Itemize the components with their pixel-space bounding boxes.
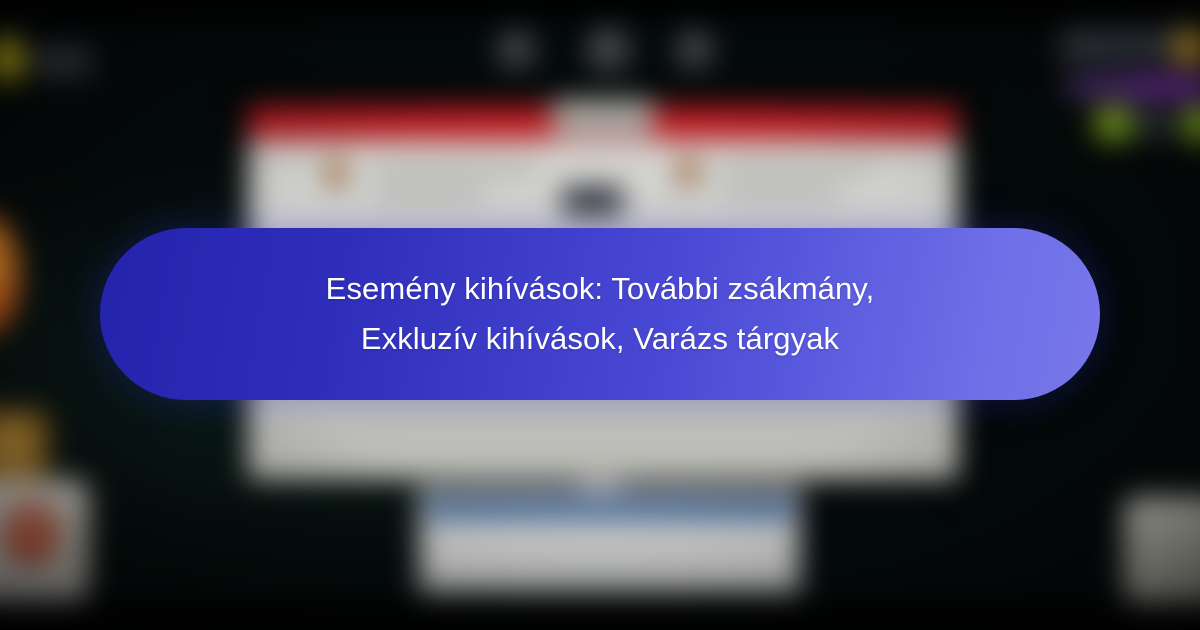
overlay-banner: Esemény kihívások: További zsákmány, Exk… <box>100 228 1100 400</box>
screenshot-stage: Esemény kihívások: További zsákmány, Exk… <box>0 0 1200 630</box>
banner-line-1: Esemény kihívások: További zsákmány, <box>326 264 875 314</box>
banner-line-2: Exkluzív kihívások, Varázs tárgyak <box>361 314 839 364</box>
